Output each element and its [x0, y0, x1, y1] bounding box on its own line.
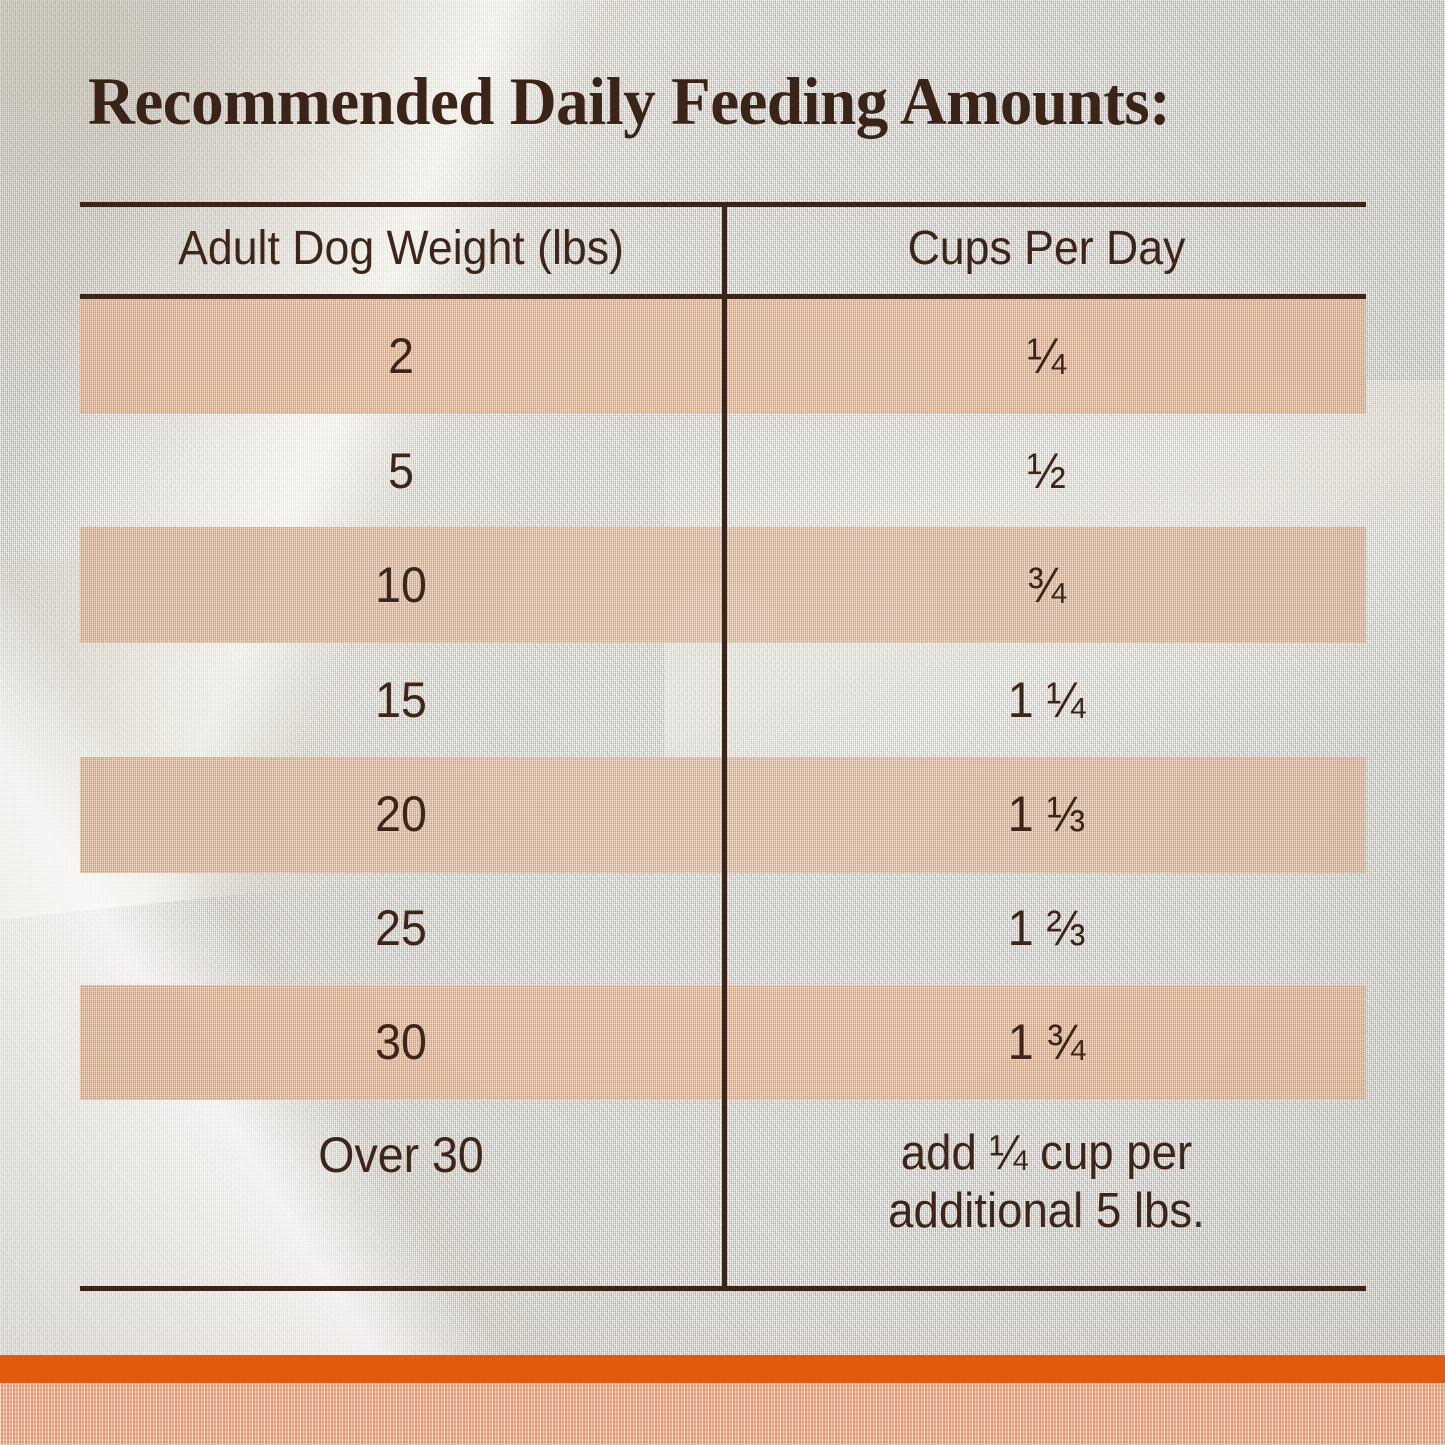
- column-header-weight: Adult Dog Weight (lbs): [102, 220, 699, 278]
- table-row: 2: [102, 327, 699, 385]
- feeding-chart-poster: Recommended Daily Feeding Amounts: Adult…: [0, 0, 1445, 1445]
- table-row: 1 ¼: [749, 671, 1343, 729]
- table-row: 15: [102, 671, 699, 729]
- page-title: Recommended Daily Feeding Amounts:: [88, 62, 1320, 140]
- footer-salmon-fabric-strip: [0, 1383, 1445, 1445]
- table-row: 30: [102, 1013, 699, 1071]
- table-row: 1 ⅓: [749, 785, 1343, 843]
- table-column-divider: [722, 207, 727, 1291]
- table-row: 1 ⅔: [749, 899, 1343, 957]
- table-row-note: add ¼ cup per additional 5 lbs.: [749, 1124, 1343, 1240]
- table-row: ½: [749, 442, 1343, 500]
- table-row: Over 30: [102, 1126, 699, 1184]
- accent-orange-band: [0, 1355, 1445, 1383]
- note-line-1: add ¼ cup per: [749, 1124, 1343, 1182]
- table-row: 10: [102, 556, 699, 614]
- table-row: 25: [102, 899, 699, 957]
- table-row: ¼: [749, 327, 1343, 385]
- note-line-2: additional 5 lbs.: [749, 1182, 1343, 1240]
- table-row: 1 ¾: [749, 1013, 1343, 1071]
- table-row: 20: [102, 785, 699, 843]
- column-header-cups: Cups Per Day: [749, 220, 1343, 278]
- table-row: 5: [102, 442, 699, 500]
- table-row: ¾: [749, 556, 1343, 614]
